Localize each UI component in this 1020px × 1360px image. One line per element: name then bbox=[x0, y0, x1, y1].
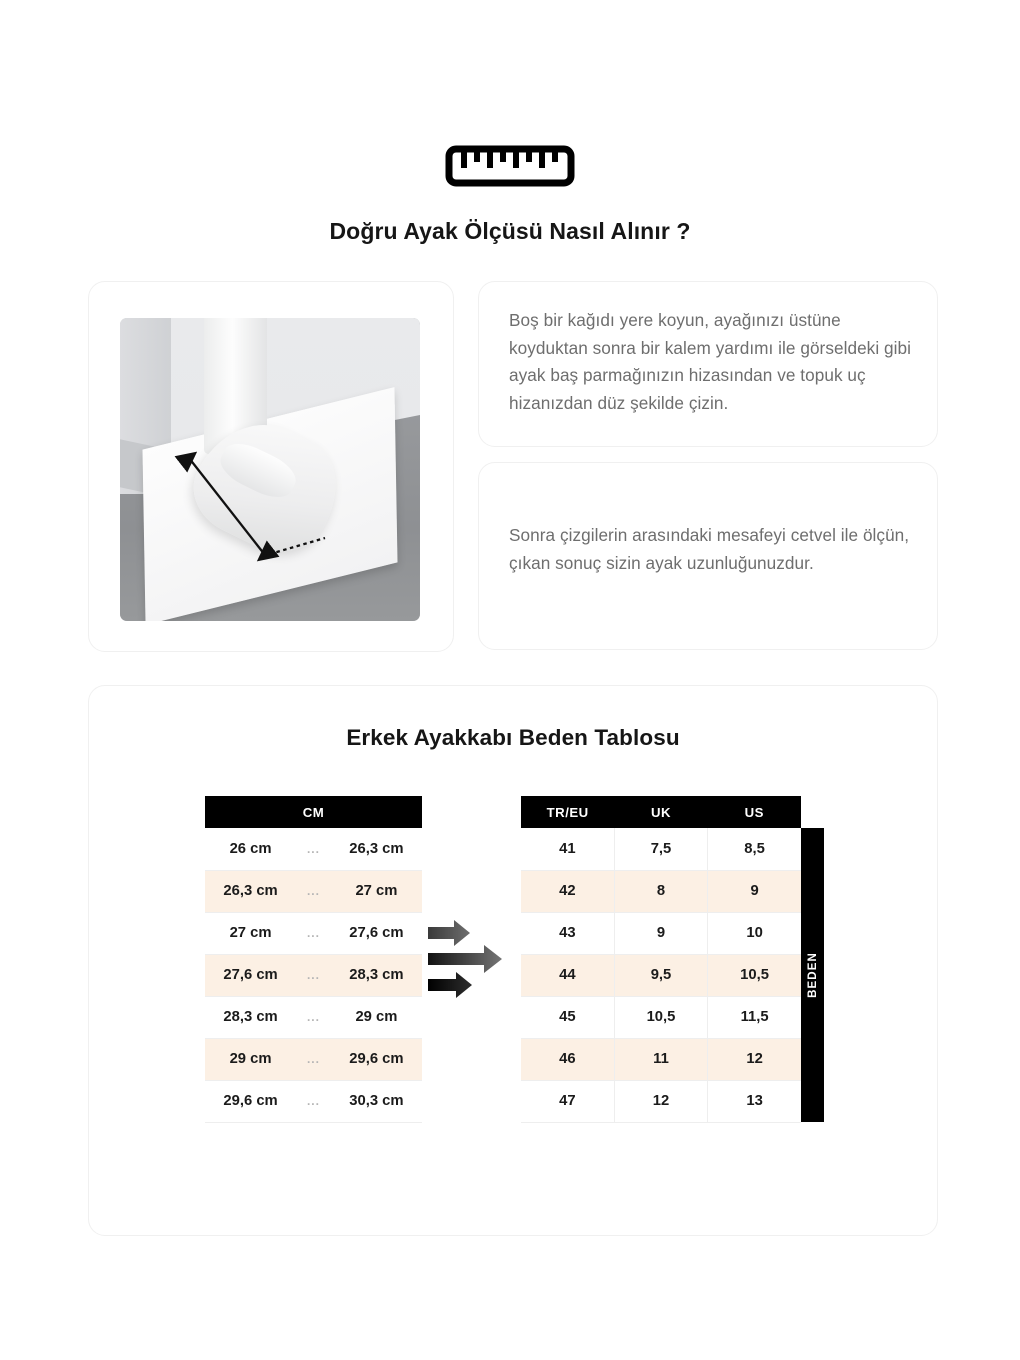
size-tr-eu-cell: 46 bbox=[521, 1038, 614, 1080]
cm-separator-cell: ... bbox=[296, 954, 331, 996]
cm-to-cell: 28,3 cm bbox=[331, 954, 422, 996]
size-table-row: 461112 bbox=[521, 1038, 801, 1080]
instruction-text-2: Sonra çizgilerin arasındaki mesafeyi cet… bbox=[509, 522, 911, 577]
cm-to-cell: 29,6 cm bbox=[331, 1038, 422, 1080]
arrow-right-icon bbox=[426, 911, 518, 1007]
instruction-card-2: Sonra çizgilerin arasındaki mesafeyi cet… bbox=[478, 462, 938, 650]
size-table-body: 417,58,5428943910449,510,54510,511,54611… bbox=[521, 828, 801, 1122]
size-uk-cell: 10,5 bbox=[614, 996, 707, 1038]
size-uk-cell: 9,5 bbox=[614, 954, 707, 996]
measurement-arrow-icon bbox=[120, 318, 420, 621]
cm-separator-cell: ... bbox=[296, 870, 331, 912]
size-us-cell: 9 bbox=[708, 870, 801, 912]
cm-table-row: 27,6 cm...28,3 cm bbox=[205, 954, 422, 996]
cm-from-cell: 27,6 cm bbox=[205, 954, 296, 996]
size-table-row: 417,58,5 bbox=[521, 828, 801, 870]
cm-table-row: 26 cm...26,3 cm bbox=[205, 828, 422, 870]
size-uk-cell: 12 bbox=[614, 1080, 707, 1122]
size-table-header-row: TR/EU UK US bbox=[521, 796, 801, 828]
size-guide-page: Doğru Ayak Ölçüsü Nasıl Alınır ? Boş bir bbox=[0, 0, 1020, 1360]
cm-table-row: 29,6 cm...30,3 cm bbox=[205, 1080, 422, 1122]
cm-separator-cell: ... bbox=[296, 1080, 331, 1122]
cm-to-cell: 27,6 cm bbox=[331, 912, 422, 954]
cm-to-cell: 26,3 cm bbox=[331, 828, 422, 870]
size-table: TR/EU UK US 417,58,5428943910449,510,545… bbox=[521, 796, 801, 1123]
cm-separator-cell: ... bbox=[296, 912, 331, 954]
cm-table-body: 26 cm...26,3 cm26,3 cm...27 cm27 cm...27… bbox=[205, 828, 422, 1122]
cm-from-cell: 29 cm bbox=[205, 1038, 296, 1080]
size-us-cell: 10 bbox=[708, 912, 801, 954]
size-uk-cell: 11 bbox=[614, 1038, 707, 1080]
size-tr-eu-cell: 43 bbox=[521, 912, 614, 954]
cm-from-cell: 26 cm bbox=[205, 828, 296, 870]
instruction-text-1: Boş bir kağıdı yere koyun, ayağınızı üst… bbox=[509, 307, 911, 417]
size-table-header-uk: UK bbox=[614, 796, 707, 828]
cm-table-row: 28,3 cm...29 cm bbox=[205, 996, 422, 1038]
size-tr-eu-cell: 41 bbox=[521, 828, 614, 870]
cm-table-row: 26,3 cm...27 cm bbox=[205, 870, 422, 912]
foot-measurement-photo bbox=[120, 318, 420, 621]
size-table-row: 4510,511,5 bbox=[521, 996, 801, 1038]
size-chart-title: Erkek Ayakkabı Beden Tablosu bbox=[89, 725, 937, 751]
size-table-row: 471213 bbox=[521, 1080, 801, 1122]
size-table-header-tr-eu: TR/EU bbox=[521, 796, 614, 828]
size-us-cell: 8,5 bbox=[708, 828, 801, 870]
size-tr-eu-cell: 42 bbox=[521, 870, 614, 912]
beden-label: BEDEN bbox=[807, 952, 819, 998]
size-uk-cell: 9 bbox=[614, 912, 707, 954]
size-us-cell: 13 bbox=[708, 1080, 801, 1122]
size-us-cell: 12 bbox=[708, 1038, 801, 1080]
cm-separator-cell: ... bbox=[296, 1038, 331, 1080]
size-table-row: 4289 bbox=[521, 870, 801, 912]
page-title: Doğru Ayak Ölçüsü Nasıl Alınır ? bbox=[0, 218, 1020, 245]
cm-to-cell: 29 cm bbox=[331, 996, 422, 1038]
cm-separator-cell: ... bbox=[296, 828, 331, 870]
instruction-card-1: Boş bir kağıdı yere koyun, ayağınızı üst… bbox=[478, 281, 938, 447]
size-tables-container: CM 26 cm...26,3 cm26,3 cm...27 cm27 cm..… bbox=[89, 796, 937, 1146]
size-uk-cell: 7,5 bbox=[614, 828, 707, 870]
photo-card bbox=[88, 281, 454, 652]
size-table-header-us: US bbox=[708, 796, 801, 828]
cm-from-cell: 26,3 cm bbox=[205, 870, 296, 912]
cm-from-cell: 29,6 cm bbox=[205, 1080, 296, 1122]
size-table-row: 43910 bbox=[521, 912, 801, 954]
cm-table-header-row: CM bbox=[205, 796, 422, 828]
cm-from-cell: 28,3 cm bbox=[205, 996, 296, 1038]
size-table-row: 449,510,5 bbox=[521, 954, 801, 996]
size-uk-cell: 8 bbox=[614, 870, 707, 912]
ruler-icon bbox=[445, 145, 575, 187]
cm-table: CM 26 cm...26,3 cm26,3 cm...27 cm27 cm..… bbox=[205, 796, 422, 1123]
size-us-cell: 11,5 bbox=[708, 996, 801, 1038]
cm-separator-cell: ... bbox=[296, 996, 331, 1038]
cm-to-cell: 30,3 cm bbox=[331, 1080, 422, 1122]
cm-to-cell: 27 cm bbox=[331, 870, 422, 912]
beden-side-bar: BEDEN bbox=[801, 828, 824, 1122]
size-tr-eu-cell: 44 bbox=[521, 954, 614, 996]
size-tr-eu-cell: 47 bbox=[521, 1080, 614, 1122]
size-chart-card: Erkek Ayakkabı Beden Tablosu CM 26 cm...… bbox=[88, 685, 938, 1236]
size-us-cell: 10,5 bbox=[708, 954, 801, 996]
cm-table-row: 27 cm...27,6 cm bbox=[205, 912, 422, 954]
cm-table-header-cell: CM bbox=[205, 796, 422, 828]
ruler-icon-container bbox=[0, 145, 1020, 187]
size-tr-eu-cell: 45 bbox=[521, 996, 614, 1038]
cm-table-row: 29 cm...29,6 cm bbox=[205, 1038, 422, 1080]
cm-from-cell: 27 cm bbox=[205, 912, 296, 954]
